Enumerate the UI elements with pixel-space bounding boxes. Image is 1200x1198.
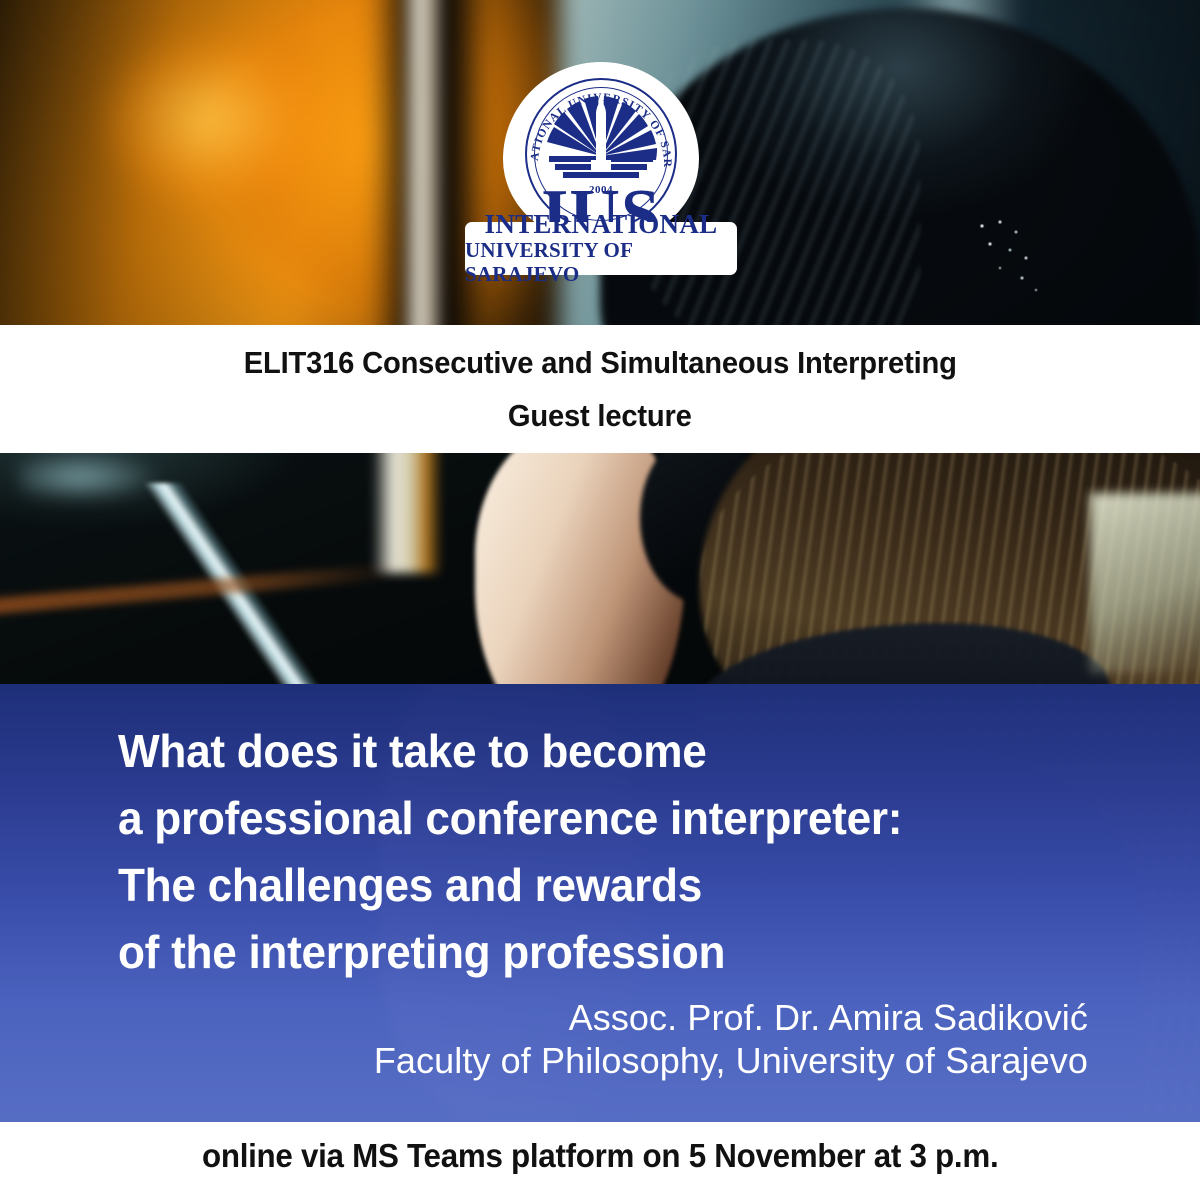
headline-line-2: a professional conference interpreter:: [118, 785, 1078, 852]
headline-line-4: of the interpreting profession: [118, 919, 1078, 986]
warm-lamp-light: [372, 453, 442, 573]
course-title-line: ELIT316 Consecutive and Simultaneous Int…: [244, 347, 957, 378]
logo-year-label: 2004: [503, 184, 699, 196]
lecture-headline: What does it take to become a profession…: [118, 718, 1078, 986]
ius-logo: INTERNATIONAL UNIVERSITY OF SARAJEVO 200…: [465, 62, 737, 275]
headline-line-3: The challenges and rewards: [118, 852, 1078, 919]
event-poster: INTERNATIONAL UNIVERSITY OF SARAJEVO 200…: [0, 0, 1200, 1198]
footer-details-text: online via MS Teams platform on 5 Novemb…: [202, 1137, 998, 1183]
speaker-block: Assoc. Prof. Dr. Amira Sadiković Faculty…: [88, 996, 1088, 1082]
middle-photo-background: [0, 453, 1200, 684]
event-type-line: Guest lecture: [508, 400, 692, 431]
speaker-affiliation: Faculty of Philosophy, University of Sar…: [88, 1039, 1088, 1082]
logo-nameplate-line1: INTERNATIONAL: [485, 211, 718, 238]
logo-nameplate: INTERNATIONAL UNIVERSITY OF SARAJEVO: [465, 222, 737, 275]
window-light-panel: [1090, 493, 1200, 673]
headline-line-1: What does it take to become: [118, 718, 1078, 785]
speaker-name: Assoc. Prof. Dr. Amira Sadiković: [88, 996, 1088, 1039]
course-title-band: ELIT316 Consecutive and Simultaneous Int…: [0, 325, 1200, 453]
event-details-footer: online via MS Teams platform on 5 Novemb…: [0, 1122, 1200, 1198]
logo-nameplate-line2: UNIVERSITY OF SARAJEVO: [465, 238, 737, 286]
